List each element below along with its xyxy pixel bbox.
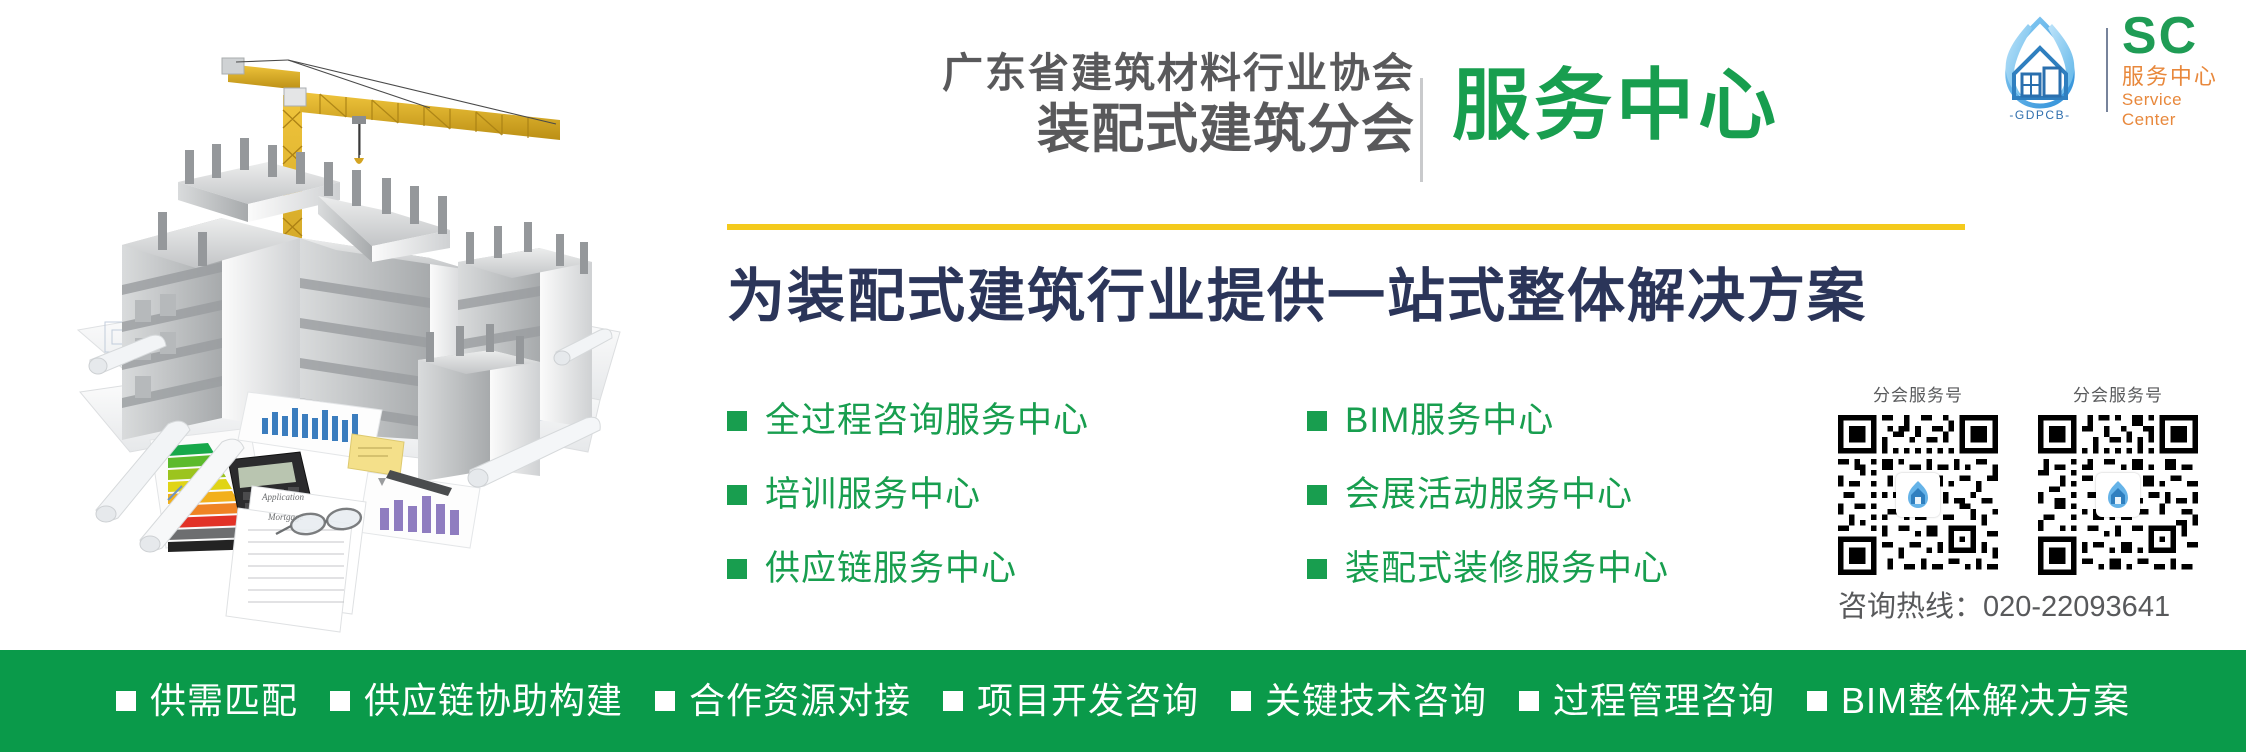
list-item-label: 全过程咨询服务中心 <box>765 400 1089 442</box>
bar-item[interactable]: 供应链协助构建 <box>330 679 623 723</box>
bottom-capability-bar: 供需匹配 供应链协助构建 合作资源对接 项目开发咨询 关键技术咨询 过程管理咨询… <box>0 650 2246 752</box>
square-bullet-icon <box>655 691 675 711</box>
gdpcb-logo-graphic <box>2101 478 2135 512</box>
hotline-text: 咨询热线：020-22093641 <box>1838 589 2228 625</box>
square-bullet-icon <box>330 691 350 711</box>
list-item-label: 装配式装修服务中心 <box>1345 548 1669 590</box>
association-name-line1: 广东省建筑材料行业协会 <box>725 48 1415 99</box>
sc-service-center-logo: -GDPCB- SC 服务中心 Service Center <box>1988 14 2236 126</box>
sc-logo-divider <box>2106 28 2108 112</box>
square-bullet-icon <box>1807 691 1827 711</box>
gdpcb-emblem-graphic: -GDPCB- <box>1988 14 2092 126</box>
square-bullet-icon <box>727 411 747 431</box>
service-center-list: 全过程咨询服务中心 培训服务中心 供应链服务中心 BIM服务中心 会展活动服务中… <box>727 400 1787 590</box>
list-item[interactable]: 装配式装修服务中心 <box>1307 548 1787 590</box>
list-item[interactable]: BIM服务中心 <box>1307 400 1787 442</box>
qr-code-cell: 分会服务号 <box>2038 385 2198 575</box>
gdpcb-wordmark: -GDPCB- <box>2009 108 2070 122</box>
bar-item-label: 项目开发咨询 <box>977 679 1199 723</box>
list-item[interactable]: 全过程咨询服务中心 <box>727 400 1307 442</box>
bar-item[interactable]: 供需匹配 <box>116 679 298 723</box>
bar-item[interactable]: 合作资源对接 <box>655 679 911 723</box>
tagline: 为装配式建筑行业提供一站式整体解决方案 <box>727 262 1967 332</box>
service-column-right: BIM服务中心 会展活动服务中心 装配式装修服务中心 <box>1307 400 1787 590</box>
sc-chinese-label: 服务中心 <box>2122 64 2236 90</box>
gdpcb-logo-icon <box>2096 473 2140 517</box>
list-item-label: BIM服务中心 <box>1345 400 1554 442</box>
list-item[interactable]: 会展活动服务中心 <box>1307 474 1787 516</box>
list-item-label: 供应链服务中心 <box>765 548 1017 590</box>
sticky-note <box>348 434 404 476</box>
header-vertical-divider <box>1420 78 1423 182</box>
promotional-banner: Mortgage Application <box>0 0 2246 752</box>
qr-caption: 分会服务号 <box>2038 385 2198 407</box>
bar-item[interactable]: 项目开发咨询 <box>943 679 1199 723</box>
square-bullet-icon <box>1519 691 1539 711</box>
qr-caption: 分会服务号 <box>1838 385 1998 407</box>
qr-code-image-1[interactable] <box>1838 415 1998 575</box>
square-bullet-icon <box>116 691 136 711</box>
list-item-label: 会展活动服务中心 <box>1345 474 1633 516</box>
construction-illustration: Mortgage Application <box>0 0 660 650</box>
square-bullet-icon <box>1307 411 1327 431</box>
bar-item-label: 合作资源对接 <box>689 679 911 723</box>
association-name: 广东省建筑材料行业协会 装配式建筑分会 <box>725 48 1415 161</box>
gold-divider-rule <box>727 224 1965 230</box>
sc-english-label: Service Center <box>2122 90 2236 130</box>
gdpcb-emblem-icon: -GDPCB- <box>1988 14 2092 126</box>
square-bullet-icon <box>1307 559 1327 579</box>
bar-item[interactable]: 过程管理咨询 <box>1519 679 1775 723</box>
gdpcb-logo-graphic <box>1901 478 1935 512</box>
bar-item[interactable]: 关键技术咨询 <box>1231 679 1487 723</box>
square-bullet-icon <box>1231 691 1251 711</box>
square-bullet-icon <box>727 559 747 579</box>
svg-text:Application: Application <box>261 492 304 502</box>
page-title: 服务中心 <box>1452 60 1780 150</box>
square-bullet-icon <box>727 485 747 505</box>
bar-item-label: 关键技术咨询 <box>1265 679 1487 723</box>
bar-item-label: 过程管理咨询 <box>1553 679 1775 723</box>
list-item[interactable]: 供应链服务中心 <box>727 548 1307 590</box>
bar-item-label: 供需匹配 <box>150 679 298 723</box>
service-column-left: 全过程咨询服务中心 培训服务中心 供应链服务中心 <box>727 400 1307 590</box>
sc-abbreviation: SC <box>2122 11 2236 61</box>
association-name-line2: 装配式建筑分会 <box>725 99 1415 161</box>
qr-code-block: 分会服务号 <box>1838 385 2228 625</box>
gdpcb-logo-icon <box>1896 473 1940 517</box>
bar-item-label: 供应链协助构建 <box>364 679 623 723</box>
bar-item-label: BIM整体解决方案 <box>1841 679 2130 723</box>
list-item[interactable]: 培训服务中心 <box>727 474 1307 516</box>
list-item-label: 培训服务中心 <box>765 474 981 516</box>
construction-illustration-graphic: Mortgage Application <box>0 0 660 650</box>
square-bullet-icon <box>943 691 963 711</box>
qr-code-image-2[interactable] <box>2038 415 2198 575</box>
square-bullet-icon <box>1307 485 1327 505</box>
bar-item[interactable]: BIM整体解决方案 <box>1807 679 2130 723</box>
qr-code-cell: 分会服务号 <box>1838 385 1998 575</box>
